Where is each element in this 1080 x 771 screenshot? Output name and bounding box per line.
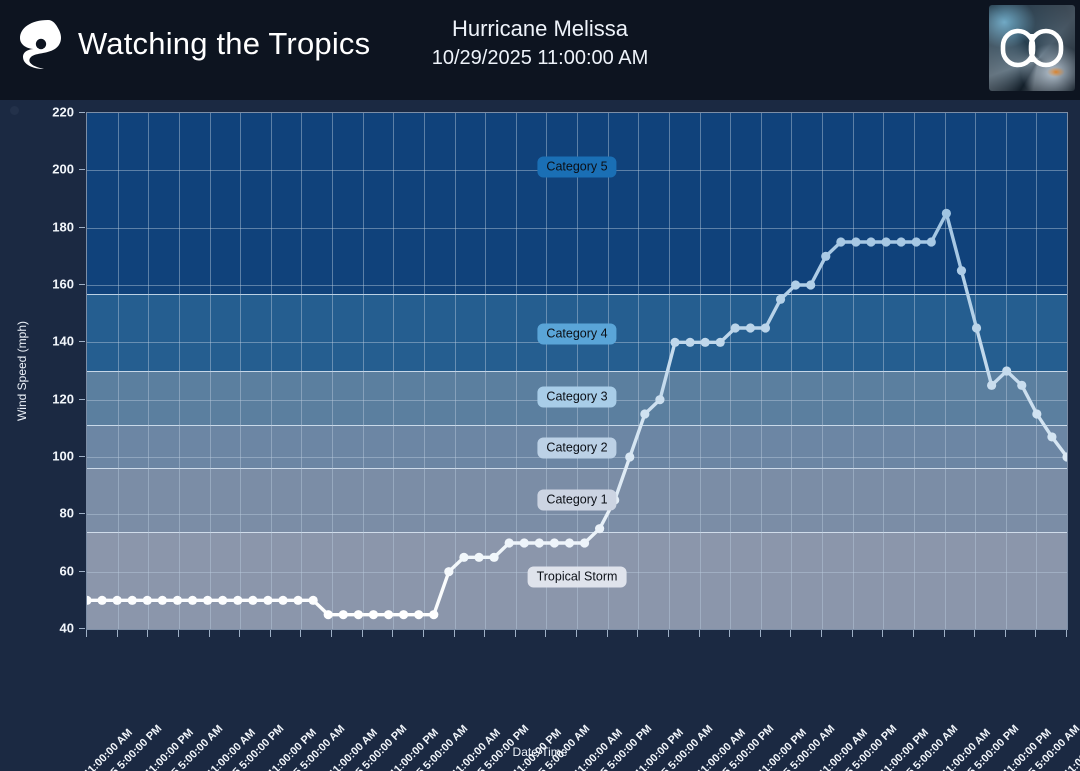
data-point[interactable]	[912, 237, 921, 246]
x-axis-tick-mark	[239, 630, 240, 637]
data-point[interactable]	[505, 538, 514, 547]
data-point[interactable]	[640, 409, 649, 418]
data-point[interactable]	[851, 237, 860, 246]
y-axis-tick-mark	[79, 628, 85, 629]
data-point[interactable]	[1047, 432, 1056, 441]
y-axis-tick-mark	[79, 399, 85, 400]
data-point[interactable]	[821, 252, 830, 261]
data-point[interactable]	[550, 538, 559, 547]
data-point[interactable]	[309, 596, 318, 605]
data-point[interactable]	[1032, 409, 1041, 418]
series-segment	[931, 213, 946, 242]
series-segment	[977, 328, 992, 385]
series-segment	[434, 572, 449, 615]
x-axis-tick-mark	[668, 630, 669, 637]
series-segment	[946, 213, 961, 270]
x-axis-tick-mark	[423, 630, 424, 637]
x-axis-tick-mark	[699, 630, 700, 637]
category-band-label: Category 5	[537, 157, 616, 178]
data-point[interactable]	[97, 596, 106, 605]
y-axis-tick-label: 180	[52, 219, 74, 234]
y-axis-tick-label: 40	[60, 621, 74, 636]
x-axis-tick-mark	[209, 630, 210, 637]
category-band-label: Category 4	[537, 323, 616, 344]
data-point[interactable]	[339, 610, 348, 619]
series-segment	[660, 342, 675, 399]
data-point[interactable]	[429, 610, 438, 619]
y-axis-tick-mark	[79, 341, 85, 342]
data-point[interactable]	[897, 237, 906, 246]
data-point[interactable]	[595, 524, 604, 533]
hurricane-wind-speed-dashboard: Watching the Tropics Hurricane Melissa 1…	[0, 0, 1080, 771]
y-axis-tick-mark	[79, 571, 85, 572]
data-point[interactable]	[218, 596, 227, 605]
y-axis-tick-label: 80	[60, 506, 74, 521]
x-axis-tick-mark	[1035, 630, 1036, 637]
data-point[interactable]	[128, 596, 137, 605]
data-point[interactable]	[987, 381, 996, 390]
y-axis-tick-mark	[79, 284, 85, 285]
data-point[interactable]	[716, 338, 725, 347]
category-band-label: Tropical Storm	[528, 567, 627, 588]
data-point[interactable]	[369, 610, 378, 619]
data-point[interactable]	[489, 553, 498, 562]
data-point[interactable]	[1017, 381, 1026, 390]
data-point[interactable]	[293, 596, 302, 605]
data-point[interactable]	[459, 553, 468, 562]
gridline-vertical	[1067, 113, 1068, 629]
x-axis-tick-mark	[117, 630, 118, 637]
data-point[interactable]	[670, 338, 679, 347]
data-point[interactable]	[942, 209, 951, 218]
x-axis-tick-mark	[637, 630, 638, 637]
data-point[interactable]	[248, 596, 257, 605]
data-point[interactable]	[263, 596, 272, 605]
data-point[interactable]	[791, 280, 800, 289]
x-axis-tick-mark	[1066, 630, 1067, 637]
dd-logo-icon	[989, 5, 1075, 91]
data-point[interactable]	[324, 610, 333, 619]
data-point[interactable]	[444, 567, 453, 576]
x-axis-tick-mark	[1005, 630, 1006, 637]
x-axis-tick-mark	[576, 630, 577, 637]
series-segment	[630, 414, 645, 457]
data-point[interactable]	[143, 596, 152, 605]
x-axis-tick-mark	[331, 630, 332, 637]
category-band-label: Category 1	[537, 490, 616, 511]
data-point[interactable]	[399, 610, 408, 619]
x-axis-tick-mark	[484, 630, 485, 637]
series-segment	[1022, 385, 1037, 414]
y-axis-tick-label: 160	[52, 277, 74, 292]
data-point[interactable]	[625, 452, 634, 461]
series-segment	[811, 256, 826, 285]
data-point[interactable]	[87, 596, 92, 605]
data-point[interactable]	[746, 323, 755, 332]
x-axis-tick-mark	[392, 630, 393, 637]
x-axis-tick-mark	[790, 630, 791, 637]
data-point[interactable]	[655, 395, 664, 404]
data-point[interactable]	[1002, 366, 1011, 375]
x-axis-tick-mark	[270, 630, 271, 637]
y-axis-tick-label: 100	[52, 449, 74, 464]
x-axis-tick-mark	[729, 630, 730, 637]
chart-area: Tropical StormCategory 1Category 2Catego…	[0, 100, 1080, 771]
x-axis-tick-mark	[974, 630, 975, 637]
y-axis-tick-label: 200	[52, 162, 74, 177]
x-axis-tick-mark	[300, 630, 301, 637]
data-point[interactable]	[836, 237, 845, 246]
x-axis-tick-mark	[454, 630, 455, 637]
y-axis-title: Wind Speed (mph)	[15, 321, 29, 421]
series-segment	[765, 299, 780, 328]
x-axis-tick-mark	[86, 630, 87, 637]
x-axis-title: Date/Time	[0, 745, 1080, 759]
ember-decoration	[1047, 67, 1065, 77]
app-header: Watching the Tropics Hurricane Melissa 1…	[0, 0, 1080, 100]
app-title: Watching the Tropics	[78, 26, 370, 62]
x-axis-tick-mark	[147, 630, 148, 637]
data-point[interactable]	[761, 323, 770, 332]
data-point[interactable]	[776, 295, 785, 304]
category-band-label: Category 2	[537, 438, 616, 459]
data-point[interactable]	[535, 538, 544, 547]
data-point[interactable]	[233, 596, 242, 605]
y-axis-tick-mark	[79, 112, 85, 113]
y-axis-tick-mark	[79, 169, 85, 170]
data-point[interactable]	[384, 610, 393, 619]
data-point[interactable]	[731, 323, 740, 332]
x-axis-tick-mark	[913, 630, 914, 637]
x-axis-tick-mark	[821, 630, 822, 637]
data-point[interactable]	[972, 323, 981, 332]
data-point[interactable]	[565, 538, 574, 547]
data-point[interactable]	[580, 538, 589, 547]
data-point[interactable]	[278, 596, 287, 605]
y-axis-tick-mark	[79, 456, 85, 457]
x-axis-tick-mark	[852, 630, 853, 637]
series-segment	[961, 271, 976, 328]
category-band-label: Category 3	[537, 386, 616, 407]
y-axis-tick-label: 220	[52, 105, 74, 120]
data-point[interactable]	[866, 237, 875, 246]
dd-monogram-icon	[1000, 28, 1064, 68]
series-segment	[615, 457, 630, 500]
data-point[interactable]	[701, 338, 710, 347]
data-point[interactable]	[520, 538, 529, 547]
y-axis-tick-mark	[79, 227, 85, 228]
data-point[interactable]	[957, 266, 966, 275]
data-point[interactable]	[354, 610, 363, 619]
data-point[interactable]	[806, 280, 815, 289]
y-axis-tick-mark	[79, 513, 85, 514]
data-point[interactable]	[474, 553, 483, 562]
corner-dot-decoration	[10, 106, 19, 115]
y-axis-tick-label: 60	[60, 563, 74, 578]
hurricane-icon	[18, 16, 64, 72]
data-point[interactable]	[927, 237, 936, 246]
wind-speed-series	[87, 113, 1067, 629]
x-axis-tick-mark	[944, 630, 945, 637]
data-point[interactable]	[158, 596, 167, 605]
data-point[interactable]	[203, 596, 212, 605]
x-axis-tick-mark	[178, 630, 179, 637]
y-axis-tick-label: 140	[52, 334, 74, 349]
data-point[interactable]	[414, 610, 423, 619]
data-point[interactable]	[188, 596, 197, 605]
x-axis-tick-mark	[515, 630, 516, 637]
data-point[interactable]	[173, 596, 182, 605]
x-axis-tick-mark	[607, 630, 608, 637]
x-axis-tick-mark	[362, 630, 363, 637]
x-axis-tick-mark	[882, 630, 883, 637]
data-point[interactable]	[113, 596, 122, 605]
y-axis-tick-label: 120	[52, 391, 74, 406]
x-axis-tick-mark	[545, 630, 546, 637]
data-point[interactable]	[685, 338, 694, 347]
brand: Watching the Tropics	[18, 16, 370, 72]
plot-canvas: Tropical StormCategory 1Category 2Catego…	[86, 112, 1068, 630]
data-point[interactable]	[881, 237, 890, 246]
x-axis-tick-mark	[760, 630, 761, 637]
